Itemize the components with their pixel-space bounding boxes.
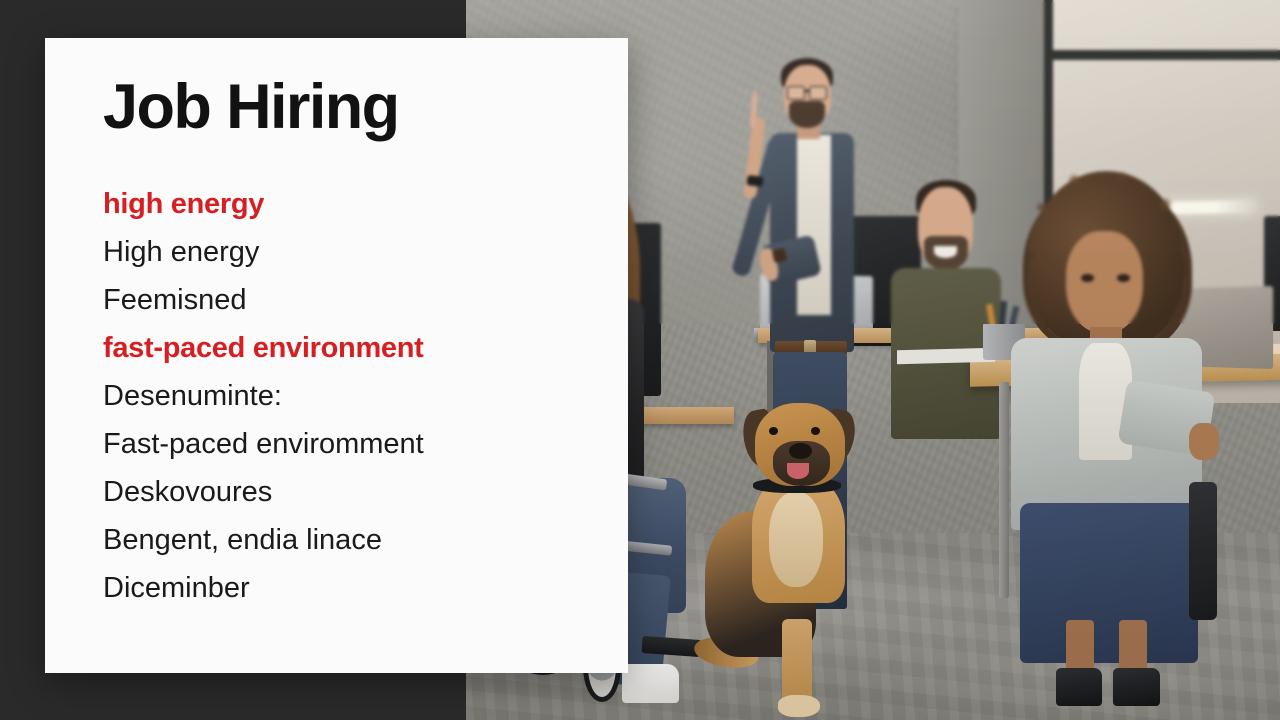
eyeglasses-right-lens	[809, 86, 827, 100]
list-item: Feemisned	[103, 286, 603, 315]
seated-colleague	[889, 187, 1003, 432]
face	[1066, 231, 1142, 332]
list-item: Fast-paced enviromment	[103, 430, 603, 459]
list-item: Bengent, endia linace	[103, 526, 603, 555]
boot	[1056, 668, 1103, 705]
list-item: High energy	[103, 238, 603, 267]
beard	[789, 101, 825, 128]
office-chair	[1189, 482, 1217, 621]
hand-on-keyboard	[1189, 423, 1219, 460]
content-card: Job Hiring high energyHigh energyFeemisn…	[45, 38, 628, 673]
keyword-highlight: fast-paced environment	[103, 334, 603, 363]
slide-canvas: Job Hiring high energyHigh energyFeemisn…	[0, 0, 1280, 720]
eyeglasses-left-lens	[787, 86, 805, 100]
paw	[778, 695, 819, 717]
eyeglasses-bridge	[805, 90, 810, 92]
chest-marking	[769, 492, 823, 587]
wristband	[746, 175, 763, 187]
eye	[1081, 274, 1094, 282]
footplate	[642, 636, 702, 657]
keyword-highlight: high energy	[103, 190, 603, 219]
eye	[1117, 274, 1130, 282]
woman-at-laptop	[1003, 173, 1215, 706]
list-item: Diceminber	[103, 574, 603, 603]
list-item: Deskovoures	[103, 478, 603, 507]
eye	[811, 427, 820, 435]
nose	[789, 443, 812, 459]
boot	[1113, 668, 1160, 705]
paper-sheet	[897, 348, 995, 365]
door-frame-horizontal	[1044, 50, 1280, 59]
keyword-list: high energyHigh energyFeemisnedfast-pace…	[103, 190, 603, 622]
service-dog	[701, 403, 880, 720]
t-shirt	[797, 135, 831, 316]
list-item: Desenuminte:	[103, 382, 603, 411]
jeans	[1020, 503, 1198, 663]
page-title: Job Hiring	[103, 76, 399, 139]
